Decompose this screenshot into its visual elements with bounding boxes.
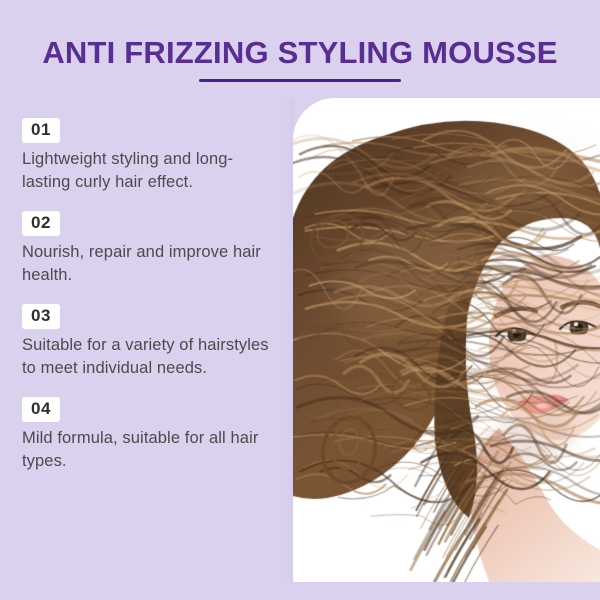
page-title: ANTI FRIZZING STYLING MOUSSE xyxy=(0,34,600,72)
feature-list: 01 Lightweight styling and long-lasting … xyxy=(22,118,278,490)
feature-item-04: 04 Mild formula, suitable for all hair t… xyxy=(22,397,278,473)
feature-badge-04: 04 xyxy=(22,397,60,422)
feature-badge-02: 02 xyxy=(22,211,60,236)
model-photo-panel xyxy=(293,98,600,582)
title-block: ANTI FRIZZING STYLING MOUSSE xyxy=(0,34,600,82)
feature-text-04: Mild formula, suitable for all hair type… xyxy=(22,427,278,473)
feature-text-02: Nourish, repair and improve hair health. xyxy=(22,241,278,287)
feature-item-01: 01 Lightweight styling and long-lasting … xyxy=(22,118,278,194)
feature-item-03: 03 Suitable for a variety of hairstyles … xyxy=(22,304,278,380)
feature-text-01: Lightweight styling and long-lasting cur… xyxy=(22,148,278,194)
title-underline xyxy=(199,79,401,82)
feature-item-02: 02 Nourish, repair and improve hair heal… xyxy=(22,211,278,287)
model-photo xyxy=(293,98,600,582)
feature-text-03: Suitable for a variety of hairstyles to … xyxy=(22,334,278,380)
product-feature-poster: ANTI FRIZZING STYLING MOUSSE 01 Lightwei… xyxy=(0,0,600,600)
feature-badge-01: 01 xyxy=(22,118,60,143)
feature-badge-03: 03 xyxy=(22,304,60,329)
